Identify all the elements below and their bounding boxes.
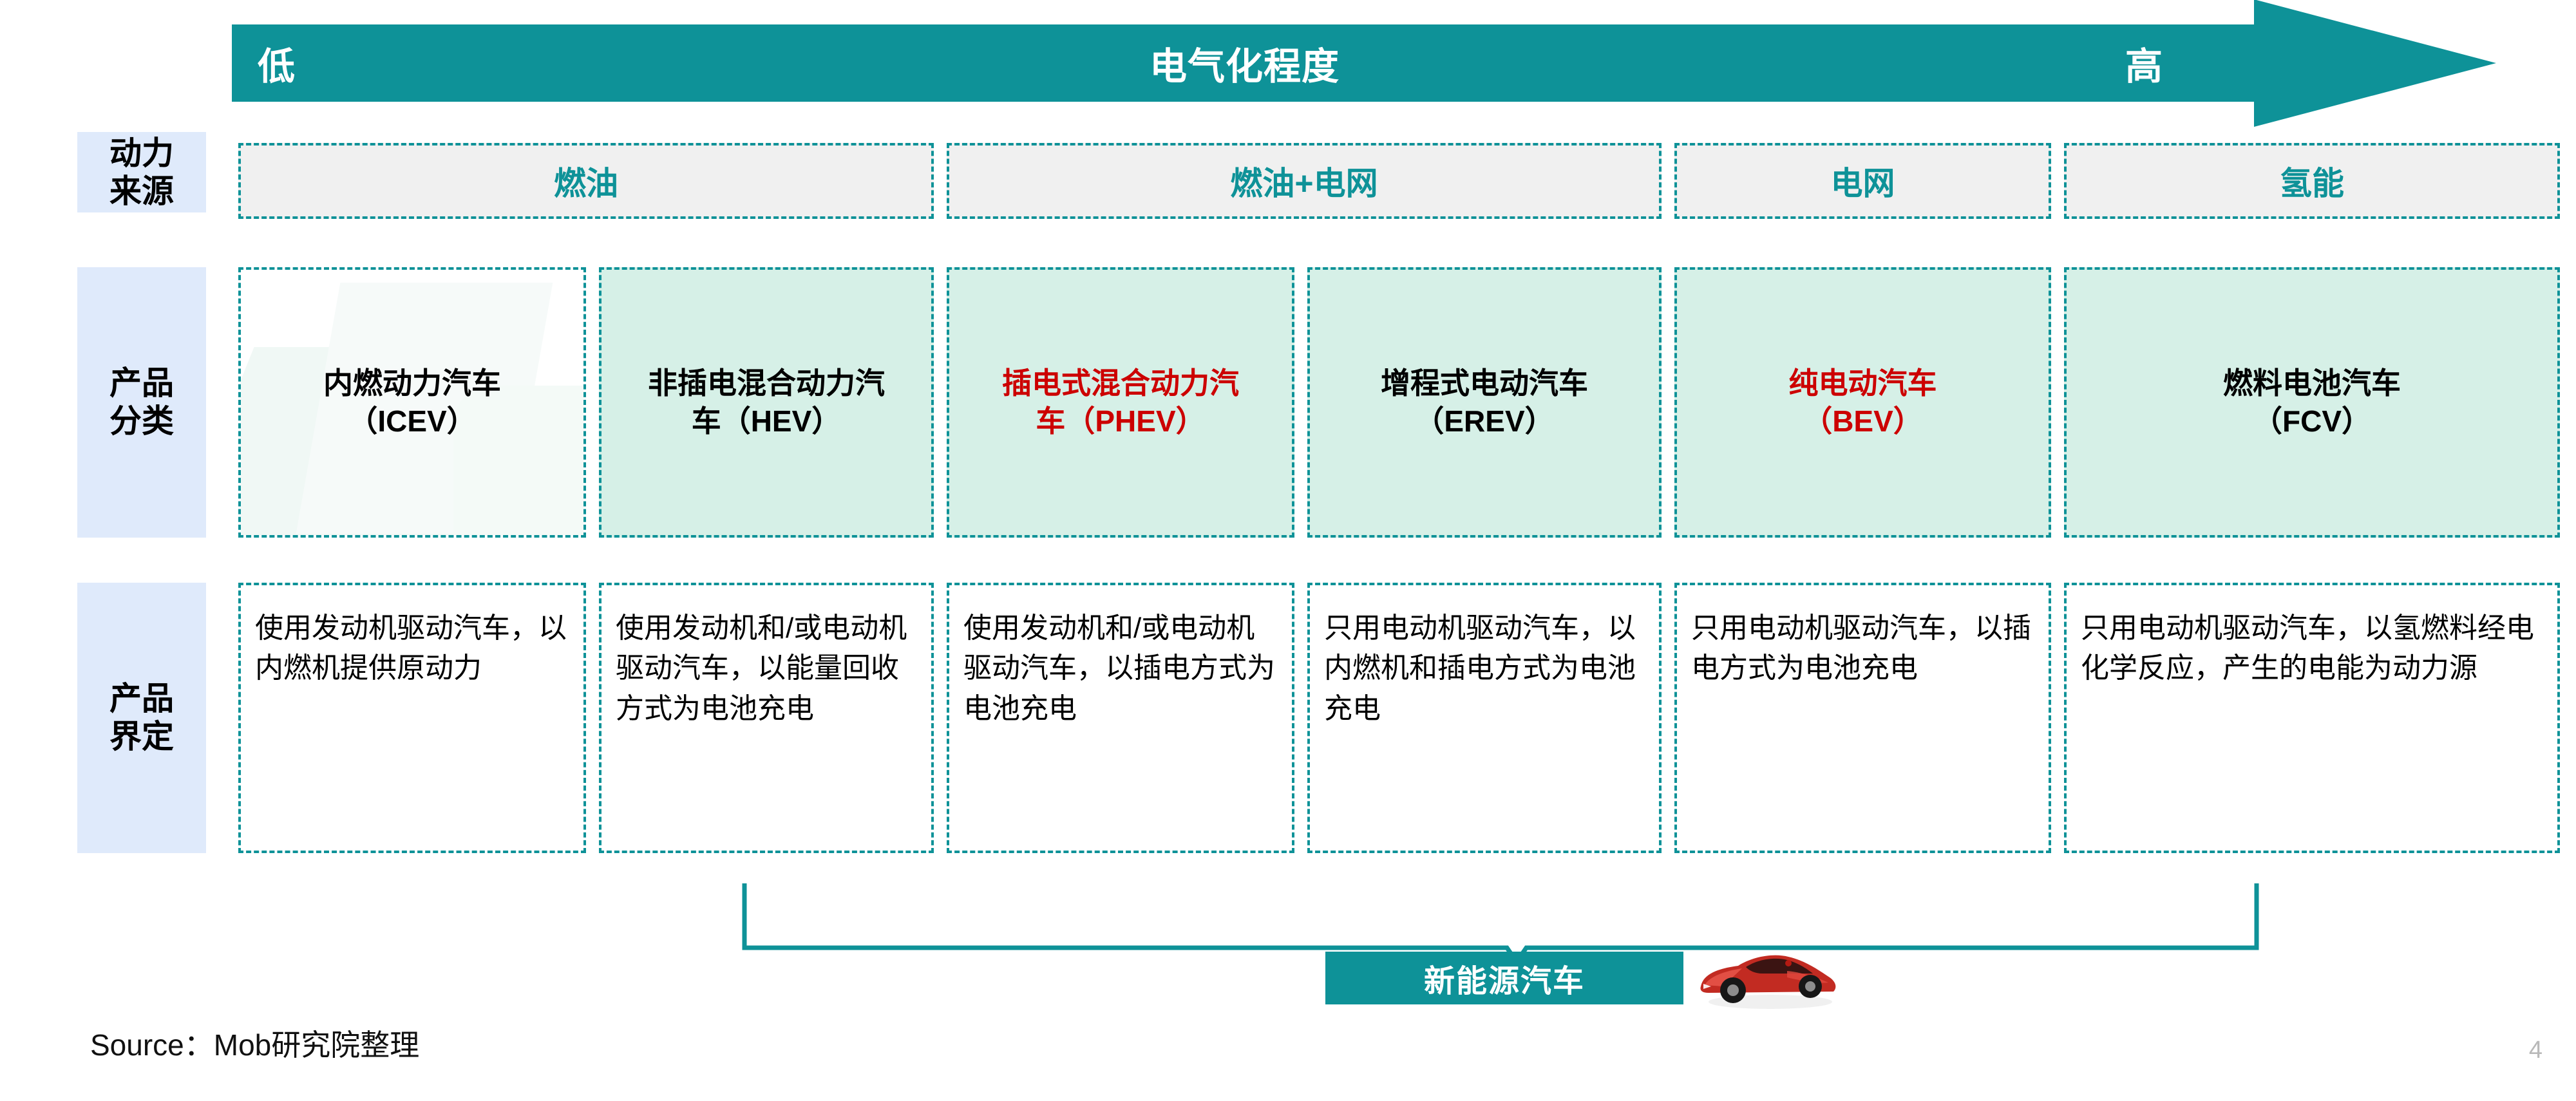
product-code-phev: 车（PHEV） — [1036, 404, 1205, 438]
row-label-power-source: 动力来源 — [77, 132, 206, 212]
power-source-cell-fuel-grid[interactable]: 燃油+电网 — [947, 143, 1662, 219]
product-code-bev: （BEV） — [1803, 404, 1923, 438]
definition-cell-phev: 使用发动机和/或电动机驱动汽车，以插电方式为电池充电 — [947, 583, 1294, 853]
product-cell-erev[interactable]: 增程式电动汽车 （EREV） — [1307, 267, 1662, 538]
product-label-erev: 增程式电动汽车 （EREV） — [1381, 364, 1588, 440]
product-label-bev: 纯电动汽车 （BEV） — [1789, 364, 1937, 440]
product-name-hev: 非插电混合动力汽 — [648, 366, 885, 400]
product-code-hev: 车（HEV） — [692, 404, 842, 438]
source-note: Source：Mob研究院整理 — [90, 1022, 419, 1064]
product-label-icev: 内燃动力汽车 （ICEV） — [323, 364, 501, 440]
product-label-hev: 非插电混合动力汽 车（HEV） — [648, 364, 885, 440]
product-name-phev: 插电式混合动力汽 — [1002, 366, 1239, 400]
axis-high-label: 高 — [2125, 24, 2163, 102]
page-number: 4 — [2529, 1037, 2543, 1064]
definition-cell-erev: 只用电动机驱动汽车，以内燃机和插电方式为电池充电 — [1307, 583, 1662, 853]
arrow-head-icon — [2254, 0, 2496, 127]
product-cell-icev[interactable]: 内燃动力汽车 （ICEV） — [238, 267, 586, 538]
power-source-cell-grid[interactable]: 电网 — [1674, 143, 2051, 219]
row-label-product-class: 产品分类 — [77, 267, 206, 538]
product-label-fcv: 燃料电池汽车 （FCV） — [2223, 364, 2401, 440]
product-name-fcv: 燃料电池汽车 — [2223, 366, 2401, 400]
nev-callout-box[interactable]: 新能源汽车 — [1325, 952, 1683, 1004]
row-label-product-definition: 产品界定 — [77, 583, 206, 853]
product-name-icev: 内燃动力汽车 — [323, 366, 501, 400]
product-cell-phev[interactable]: 插电式混合动力汽 车（PHEV） — [947, 267, 1294, 538]
slide-canvas: 低 电气化程度 高 动力来源 产品分类 产品界定 燃油 燃油+电网 电网 氢能 … — [0, 0, 2576, 1101]
product-label-phev: 插电式混合动力汽 车（PHEV） — [1002, 364, 1239, 440]
product-cell-bev[interactable]: 纯电动汽车 （BEV） — [1674, 267, 2051, 538]
product-cell-fcv[interactable]: 燃料电池汽车 （FCV） — [2064, 267, 2560, 538]
definition-cell-icev: 使用发动机驱动汽车，以内燃机提供原动力 — [238, 583, 586, 853]
product-name-erev: 增程式电动汽车 — [1381, 366, 1588, 400]
definition-cell-hev: 使用发动机和/或电动机驱动汽车，以能量回收方式为电池充电 — [599, 583, 934, 853]
power-source-cell-hydrogen[interactable]: 氢能 — [2064, 143, 2560, 219]
product-cell-hev[interactable]: 非插电混合动力汽 车（HEV） — [599, 267, 934, 538]
electrification-axis-arrow: 低 电气化程度 高 — [232, 24, 2495, 102]
definition-cell-fcv: 只用电动机驱动汽车，以氢燃料经电化学反应，产生的电能为动力源 — [2064, 583, 2560, 853]
product-code-icev: （ICEV） — [348, 404, 476, 438]
axis-title: 电气化程度 — [232, 24, 2257, 102]
red-sports-car-image — [1690, 935, 1845, 1012]
definition-cell-bev: 只用电动机驱动汽车，以插电方式为电池充电 — [1674, 583, 2051, 853]
power-source-cell-fuel[interactable]: 燃油 — [238, 143, 934, 219]
product-code-erev: （EREV） — [1414, 404, 1554, 438]
product-code-fcv: （FCV） — [2253, 404, 2371, 438]
product-name-bev: 纯电动汽车 — [1789, 366, 1937, 400]
